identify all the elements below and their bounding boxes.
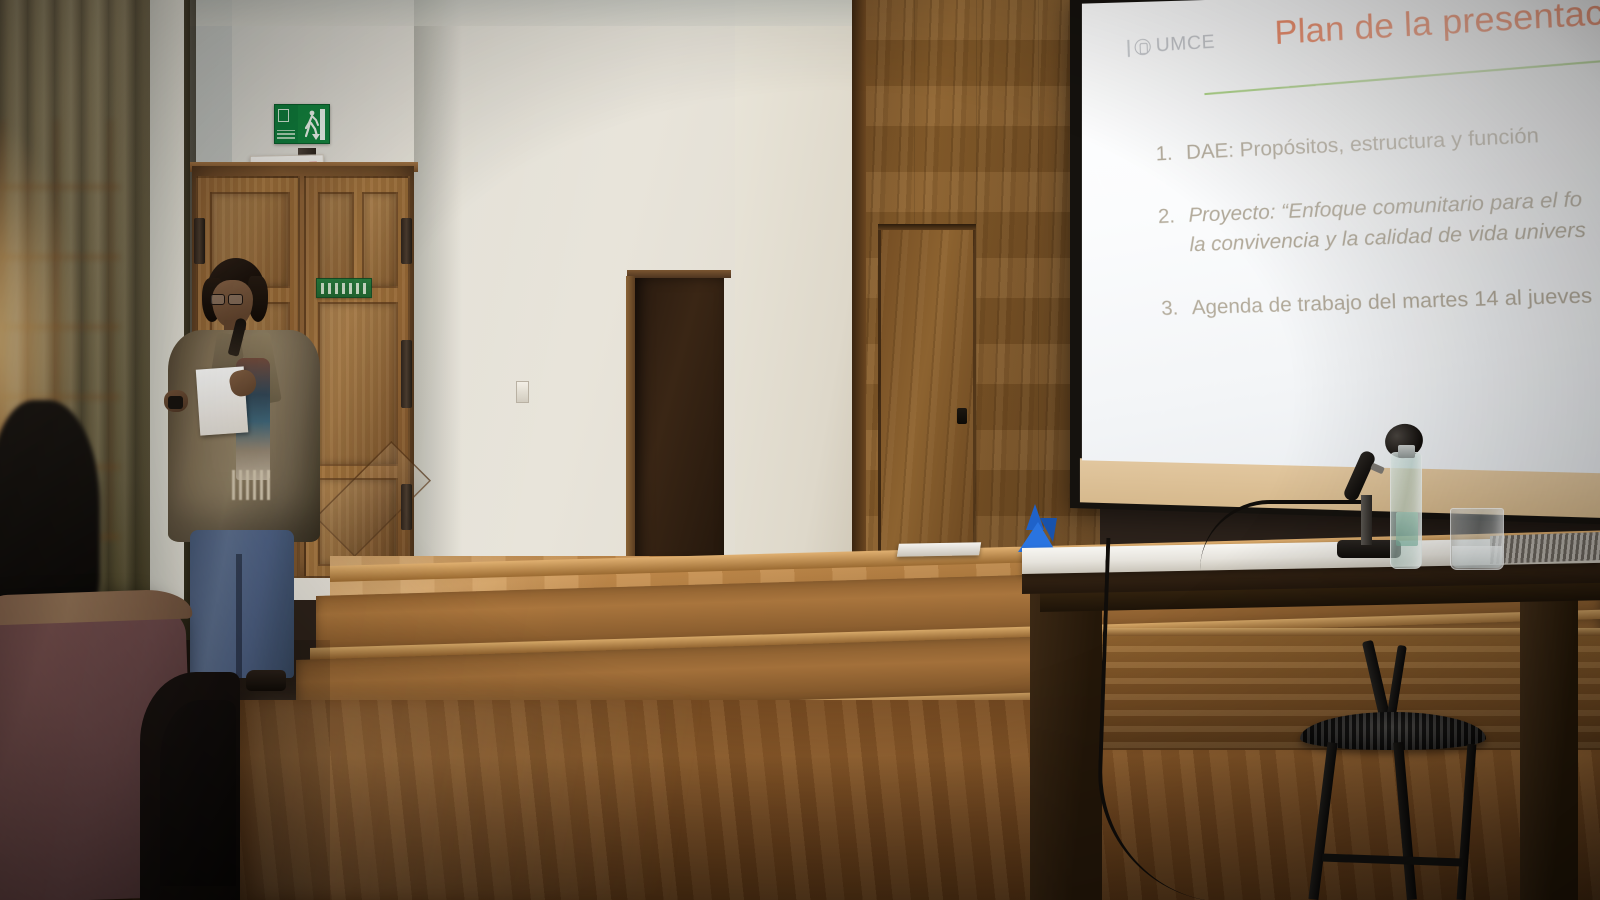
slide-title: Plan de la presentación [1274, 0, 1600, 52]
university-crest-icon [1134, 38, 1151, 55]
slide-content: UMCE Plan de la presentación 1. DAE: Pro… [1082, 0, 1600, 460]
door-hinge [401, 484, 412, 530]
laptop-keyboard-edge[interactable] [1490, 532, 1600, 564]
exit-sign-text-panel [275, 105, 298, 143]
wall-shadow [414, 0, 474, 580]
wall-right-section [735, 0, 865, 590]
slide-bullet-item: 1. DAE: Propósitos, estructura y función [1155, 110, 1600, 169]
door-hinge [401, 218, 412, 264]
glasses-icon [210, 294, 250, 305]
projection-screen: UMCE Plan de la presentación 1. DAE: Pro… [1070, 0, 1600, 525]
slide-bullet-item: 2. Proyecto: “Enfoque comunitario para e… [1158, 178, 1600, 261]
projected-slide: UMCE Plan de la presentación 1. DAE: Pro… [1082, 0, 1600, 474]
bullet-number: 1. [1155, 139, 1187, 169]
glass-water [1452, 546, 1502, 568]
logo-bar [1127, 39, 1130, 56]
ceiling [170, 0, 870, 26]
door-handle-icon[interactable] [957, 408, 967, 424]
auditorium-scene: ESCAPE [0, 0, 1600, 900]
exit-sign-figure-panel [298, 105, 329, 143]
bullet-number: 3. [1161, 294, 1193, 324]
umce-logo: UMCE [1127, 31, 1215, 59]
water-bottle-label [1396, 512, 1418, 546]
exit-arrow-icon [312, 134, 320, 140]
door-hinge [401, 340, 412, 408]
white-booklet[interactable] [897, 542, 981, 556]
water-bottle-cap[interactable] [1398, 445, 1415, 458]
origami-fold [1040, 518, 1057, 542]
bullet-text: DAE: Propósitos, estructura y función [1186, 124, 1539, 164]
presenter-trousers [190, 530, 294, 678]
emergency-exit-pictogram-icon [274, 104, 330, 144]
exit-door-bar [320, 109, 325, 140]
open-doorway[interactable] [634, 276, 724, 568]
auditorium-seat-armrest [160, 700, 236, 886]
panel-wall-door[interactable] [878, 228, 976, 566]
floor-light-reflection [250, 700, 870, 900]
slide-bullet-item: 3. Agenda de trabajo del martes 14 al ju… [1161, 276, 1600, 324]
bullet-number: 2. [1158, 202, 1191, 261]
bullet-text: Agenda de trabajo del martes 14 al jueve… [1191, 285, 1592, 320]
blue-origami-figure[interactable] [1018, 500, 1058, 552]
presenter [160, 258, 335, 698]
scarf-fringe [232, 470, 274, 500]
water-bottle[interactable] [1390, 452, 1422, 569]
table-leg-left [1030, 570, 1102, 900]
door-panel [362, 192, 398, 288]
microphone-stem [1361, 495, 1372, 545]
wall-light-switch[interactable] [516, 381, 529, 403]
slide-bullet-list: 1. DAE: Propósitos, estructura y función… [1155, 110, 1600, 358]
presentation-clicker[interactable] [168, 396, 183, 409]
wood-wall-edge [852, 0, 866, 566]
umce-logo-text: UMCE [1155, 31, 1215, 57]
foreground-dark-object [0, 400, 100, 620]
table-leg-right [1520, 572, 1578, 900]
slide-title-rule [1204, 42, 1600, 95]
presenter-shoe-right [246, 670, 286, 691]
